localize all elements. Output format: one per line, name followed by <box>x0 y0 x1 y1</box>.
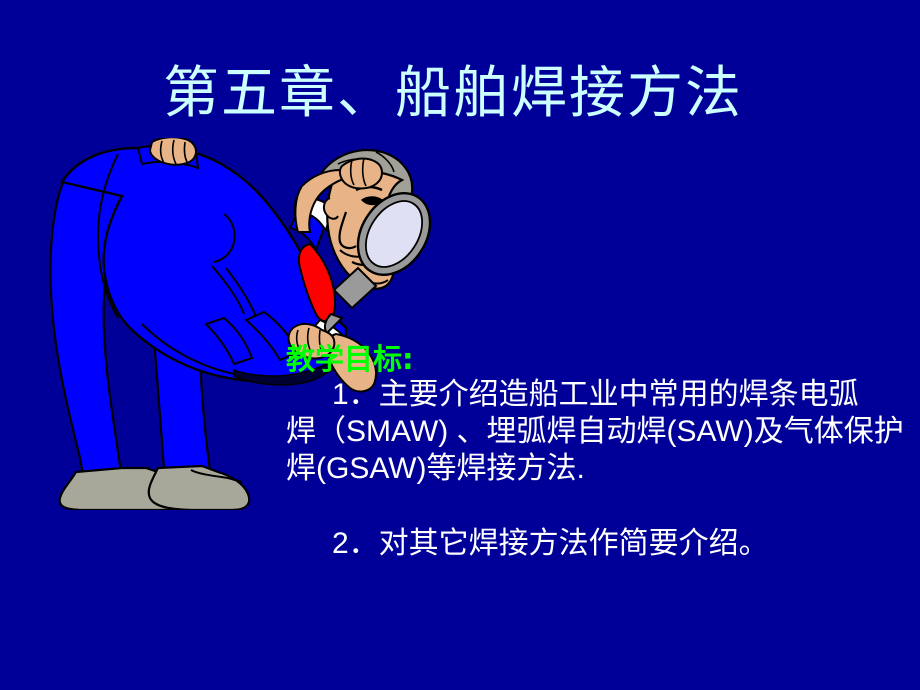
content-line-4: 2．对其它焊接方法作简要介绍。 <box>254 525 920 562</box>
presentation-slide: 第五章、船舶焊接方法 <box>0 0 920 690</box>
content-line-1: 1．主要介绍造船工业中常用的焊条电弧 <box>254 376 920 413</box>
content-text-block: 教学目标: 1．主要介绍造船工业中常用的焊条电弧 焊（SMAW) 、埋弧焊自动焊… <box>254 342 920 562</box>
goal-heading: 教学目标: <box>254 342 920 376</box>
content-line-3: 焊(GSAW)等焊接方法. <box>254 450 920 487</box>
content-line-2: 焊（SMAW) 、埋弧焊自动焊(SAW)及气体保护 <box>254 413 920 450</box>
hand-at-head <box>340 159 382 189</box>
page-title: 第五章、船舶焊接方法 <box>163 62 743 126</box>
